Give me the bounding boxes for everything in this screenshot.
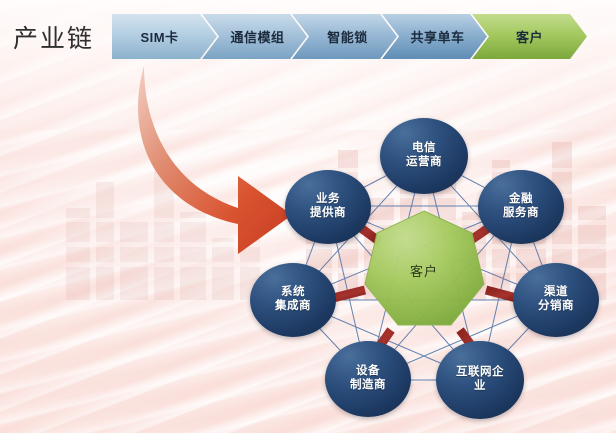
node-integrator[interactable]: 系统 集成商 (250, 263, 336, 337)
value-chain: SIM卡 通信模组 智能锁 共享单车 客户 (112, 14, 592, 59)
node-provider-line-0: 业务 (310, 193, 346, 207)
center-node-customer[interactable]: 客户 (378, 253, 470, 287)
node-provider-line-1: 提供商 (310, 207, 346, 221)
node-channel[interactable]: 渠道 分销商 (513, 263, 599, 337)
node-telecom-line-1: 运营商 (406, 156, 442, 170)
center-node-label: 客户 (410, 261, 438, 280)
chevron-step-1[interactable] (202, 14, 307, 59)
chevron-step-2[interactable] (292, 14, 397, 59)
page-title: 产业链 (13, 19, 94, 55)
node-internet-line-1: 业 (456, 380, 504, 394)
node-telecom-line-0: 电信 (406, 142, 442, 156)
chevron-step-3[interactable] (382, 14, 487, 59)
node-integrator-line-0: 系统 (275, 286, 311, 300)
node-telecom[interactable]: 电信 运营商 (380, 118, 468, 194)
chevron-step-4[interactable] (472, 14, 587, 59)
node-integrator-line-1: 集成商 (275, 300, 311, 314)
node-manufacturer-line-1: 制造商 (350, 379, 386, 393)
node-internet[interactable]: 互联网企 业 (436, 341, 524, 419)
node-channel-line-1: 分销商 (538, 300, 574, 314)
ecosystem-network: 客户 电信 运营商 金融 服务商 渠道 分销商 互联网企 业 (228, 108, 616, 433)
node-internet-line-0: 互联网企 (456, 366, 504, 380)
value-chain-shapes (112, 14, 592, 59)
node-finance[interactable]: 金融 服务商 (478, 170, 564, 244)
chevron-step-0[interactable] (112, 14, 217, 59)
node-manufacturer[interactable]: 设备 制造商 (325, 341, 411, 417)
node-channel-line-0: 渠道 (538, 286, 574, 300)
slide-canvas: 产业链 (0, 0, 616, 433)
node-provider[interactable]: 业务 提供商 (285, 170, 371, 244)
node-manufacturer-line-0: 设备 (350, 365, 386, 379)
node-finance-line-1: 服务商 (503, 207, 539, 221)
node-finance-line-0: 金融 (503, 193, 539, 207)
